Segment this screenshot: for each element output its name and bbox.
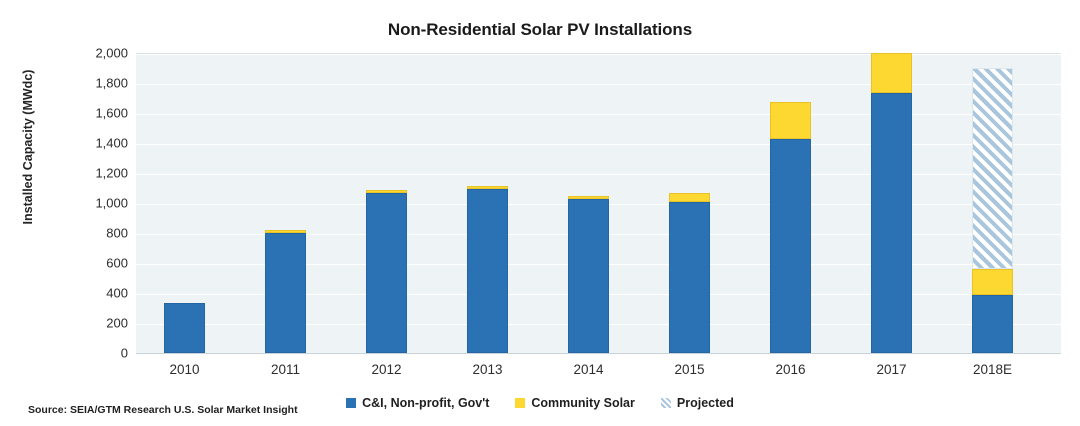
legend-item[interactable]: Projected [661, 396, 734, 410]
x-tick-label: 2017 [841, 362, 942, 377]
bar-segment[interactable] [871, 53, 912, 93]
bar-segment[interactable] [467, 189, 508, 353]
chart-page: Non-Residential Solar PV Installations I… [0, 0, 1080, 426]
bar-segment[interactable] [366, 190, 407, 193]
x-tick-label: 2014 [538, 362, 639, 377]
legend-label: Community Solar [531, 396, 635, 410]
bar-segment[interactable] [669, 193, 710, 201]
bar-group[interactable] [669, 53, 710, 353]
bar-segment[interactable] [366, 193, 407, 353]
bar-segment[interactable] [568, 196, 609, 200]
bar-group[interactable] [871, 53, 912, 353]
bar-group[interactable] [972, 53, 1013, 353]
x-tick-label: 2013 [437, 362, 538, 377]
bar-group[interactable] [366, 53, 407, 353]
source-note: Source: SEIA/GTM Research U.S. Solar Mar… [28, 404, 298, 416]
square-swatch-hatched-icon [661, 398, 671, 408]
square-swatch-blue-icon [346, 398, 356, 408]
legend-item[interactable]: C&I, Non-profit, Gov't [346, 396, 489, 410]
legend-item[interactable]: Community Solar [515, 396, 635, 410]
bar-segment[interactable] [265, 230, 306, 233]
bar-segment[interactable] [164, 303, 205, 353]
x-tick-label: 2011 [235, 362, 336, 377]
bar-segment[interactable] [265, 233, 306, 353]
bar-segment[interactable] [467, 186, 508, 189]
bar-segment[interactable] [770, 102, 811, 139]
bar-segment[interactable] [972, 68, 1013, 269]
bar-segment[interactable] [871, 93, 912, 353]
bar-segment[interactable] [568, 199, 609, 353]
bar-segment[interactable] [972, 295, 1013, 354]
bar-segment[interactable] [669, 202, 710, 354]
bar-segment[interactable] [770, 139, 811, 354]
x-tick-label: 2010 [134, 362, 235, 377]
square-swatch-yellow-icon [515, 398, 525, 408]
x-tick-label: 2018E [942, 362, 1043, 377]
bar-segment[interactable] [972, 269, 1013, 295]
x-tick-label: 2016 [740, 362, 841, 377]
bar-group[interactable] [770, 53, 811, 353]
legend-label: Projected [677, 396, 734, 410]
bar-group[interactable] [164, 53, 205, 353]
bar-group[interactable] [467, 53, 508, 353]
legend-label: C&I, Non-profit, Gov't [362, 396, 489, 410]
bar-group[interactable] [265, 53, 306, 353]
x-tick-label: 2015 [639, 362, 740, 377]
x-tick-label: 2012 [336, 362, 437, 377]
bar-group[interactable] [568, 53, 609, 353]
